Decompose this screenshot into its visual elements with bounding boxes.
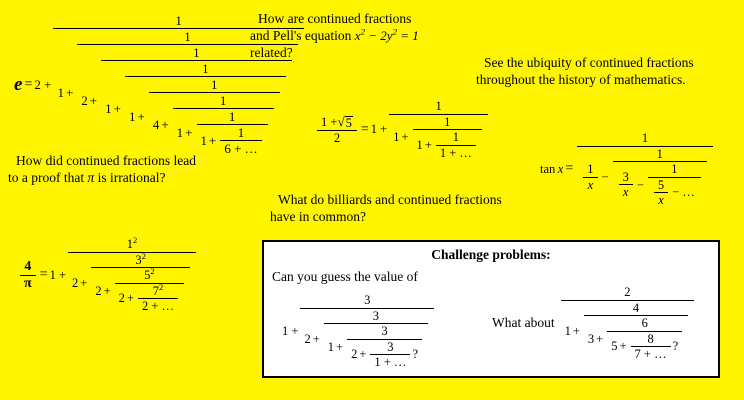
p1-numerator-2: 3: [369, 310, 383, 324]
four-pi-level-4: 72 2 + …: [138, 285, 178, 313]
ubiquity-line-2: throughout the history of mathematics.: [476, 72, 744, 89]
e-numerator-6: 1: [216, 94, 231, 108]
tan-label: tan x: [540, 163, 563, 176]
equals-sign: =: [38, 268, 50, 282]
tan-numerator-3: 1: [667, 163, 681, 177]
golden-ratio-lead: 1 +: [371, 123, 387, 136]
golden-ratio-level-1: 1 1+ 1 1+ 1: [389, 100, 488, 159]
challenge-problem-one: 1 + 3 2+ 3 1+: [282, 294, 436, 369]
tan-level-3: 1 5 x: [648, 163, 701, 207]
golden-tail: 1 + …: [436, 146, 476, 160]
pi-irrational-line-1: How did continued fractions lead: [8, 153, 258, 170]
equals-sign: =: [359, 123, 371, 137]
four-numerator: 4: [20, 260, 35, 275]
p2-level-4: 8 7 + …: [631, 333, 671, 361]
minus-sign: −: [635, 179, 646, 192]
pi-irrational-line-2: to a proof that π is irrational?: [8, 170, 258, 187]
golden-ratio-continued-fraction: 1 + √5 2 = 1 + 1 1+ 1: [315, 100, 490, 159]
p1-level-1: 3 2+ 3 1+: [300, 294, 434, 369]
four-pi-numerator-3: 52: [140, 269, 159, 283]
four-pi-numerator-4: 72: [149, 285, 168, 299]
p1-level-2: 3 1+ 3: [324, 310, 428, 369]
challenge-prompt-left: Can you guess the value of: [272, 269, 718, 285]
e-numerator-3: 1: [189, 46, 204, 60]
four-pi-tail: 2 + …: [138, 299, 178, 313]
question-billiards: What do billiards and continued fraction…: [270, 192, 570, 226]
tan-term-3-num: 5: [654, 179, 668, 193]
challenge-problems-box: Challenge problems: Can you guess the va…: [262, 240, 720, 378]
pi-irrational-line-2-pre: to a proof that: [8, 170, 84, 185]
e-level-5: 1 4+: [149, 78, 280, 155]
e-numerator-1: 1: [171, 14, 186, 28]
question-pell: How are continued fractions and Pell's e…: [250, 11, 480, 62]
tan-term-1-den: x: [584, 178, 598, 192]
radicand: 5: [345, 116, 353, 130]
tan-term-1: 1 x: [583, 163, 597, 191]
p1-question-mark: ?: [412, 348, 418, 361]
p2-level-3: 6 5+ 8: [607, 317, 682, 361]
p1-lead: 1 +: [282, 325, 298, 338]
p2-numerator-4: 8: [643, 333, 657, 347]
pi-symbol: π: [87, 170, 94, 185]
p2-tail: 7 + …: [631, 347, 671, 361]
golden-ratio-level-3: 1 1 + …: [436, 131, 476, 159]
e-level-4: 1 1+ 1: [125, 62, 286, 155]
four-pi-level-1: 12 2+ 32 2+ 52: [68, 238, 196, 313]
e-numerator-7: 1: [225, 110, 240, 124]
e-level-6: 1 1+: [173, 94, 274, 155]
tan-tail: − …: [670, 186, 697, 199]
p1-numerator-1: 3: [360, 294, 374, 308]
ubiquity-line-1: See the ubiquity of continued fractions: [476, 55, 744, 72]
tan-numerator-2: 1: [653, 148, 667, 162]
p1-level-4: 3 1 + …: [370, 341, 410, 369]
tan-level-1: 1 1 x − 1: [577, 132, 713, 207]
billiards-line-2: have in common?: [270, 209, 570, 226]
p2-numerator-1: 2: [620, 286, 634, 300]
tan-level-2: 1 3 x −: [613, 148, 707, 207]
tan-term-2-num: 3: [619, 171, 633, 185]
four-pi-numerator-1: 12: [123, 238, 142, 252]
p1-numerator-3: 3: [377, 325, 391, 339]
golden-numerator-3: 1: [449, 131, 463, 145]
four-pi-lead: 1 +: [50, 269, 66, 282]
pell-line-3: related?: [250, 45, 480, 62]
challenge-prompt-right: What about: [492, 315, 559, 332]
four-pi-numerator-2: 32: [131, 254, 150, 268]
p2-level-1: 2 1+ 4 3+: [561, 286, 695, 361]
golden-ratio-level-2: 1 1+ 1 1 + …: [413, 116, 482, 160]
tan-term-2: 3 x: [619, 171, 633, 199]
p2-numerator-2: 4: [629, 302, 643, 316]
equals-sign: =: [563, 162, 575, 176]
e-level-8: 1 6 + …: [220, 126, 261, 155]
golden-ratio-denominator: 2: [330, 131, 344, 145]
e-numerator-5: 1: [207, 78, 222, 92]
equals-sign: =: [22, 78, 34, 92]
pell-line-1: How are continued fractions: [250, 11, 480, 28]
challenge-problem-two: What about 2 1+ 4 3+: [492, 286, 696, 361]
e-level-3: 1 1+ 1: [101, 46, 292, 155]
challenge-title: Challenge problems:: [264, 247, 718, 263]
golden-ratio-one-plus: 1 +: [321, 116, 337, 129]
p2-numerator-3: 6: [638, 317, 652, 331]
pi-denominator: π: [20, 276, 36, 291]
e-level-7: 1 1+: [197, 110, 268, 155]
tan-term-1-num: 1: [583, 163, 597, 177]
pi-irrational-line-2-post: is irrational?: [98, 170, 166, 185]
p1-level-3: 3 2+ 3: [347, 325, 422, 369]
p2-level-2: 4 3+ 6: [584, 302, 688, 361]
tan-numerator-1: 1: [638, 132, 652, 146]
pell-line-2-text: and Pell's equation: [250, 28, 351, 43]
golden-ratio-numerator: 1 + √5: [317, 115, 357, 131]
square-root-icon: √5: [337, 115, 352, 130]
p1-tail: 1 + …: [370, 355, 410, 369]
four-over-pi-lhs: 4 π: [20, 260, 36, 291]
e-numerator-4: 1: [198, 62, 213, 76]
p1-numerator-4: 3: [383, 341, 397, 355]
billiards-line-1: What do billiards and continued fraction…: [270, 192, 570, 209]
golden-numerator-1: 1: [431, 100, 445, 114]
four-over-pi-continued-fraction: 4 π = 1 + 12 2+ 32: [18, 238, 198, 313]
pell-line-2: and Pell's equation x2 − 2y2 = 1: [250, 28, 480, 45]
golden-numerator-2: 1: [440, 116, 454, 130]
slide-canvas: e = 2 + 1 1+ 1 2+: [0, 0, 744, 400]
e-numerator-2: 1: [180, 30, 195, 44]
tan-term-3: 5 x: [654, 179, 668, 207]
golden-ratio-lhs: 1 + √5 2: [317, 115, 357, 145]
p2-question-mark: ?: [673, 340, 679, 353]
question-pi-irrational: How did continued fractions lead to a pr…: [8, 153, 258, 187]
e-leading-term: 2 +: [34, 78, 51, 91]
e-numerator-8: 1: [234, 126, 249, 140]
four-pi-level-2: 32 2+ 52: [91, 254, 190, 313]
question-ubiquity: See the ubiquity of continued fractions …: [476, 55, 744, 89]
tan-term-2-den: x: [619, 185, 633, 199]
four-pi-level-3: 52 2+ 72: [115, 269, 184, 313]
minus-sign: −: [600, 171, 611, 184]
e-symbol: e: [14, 75, 22, 94]
pell-equation: x2 − 2y2 = 1: [355, 28, 419, 43]
tan-term-3-den: x: [654, 193, 668, 207]
